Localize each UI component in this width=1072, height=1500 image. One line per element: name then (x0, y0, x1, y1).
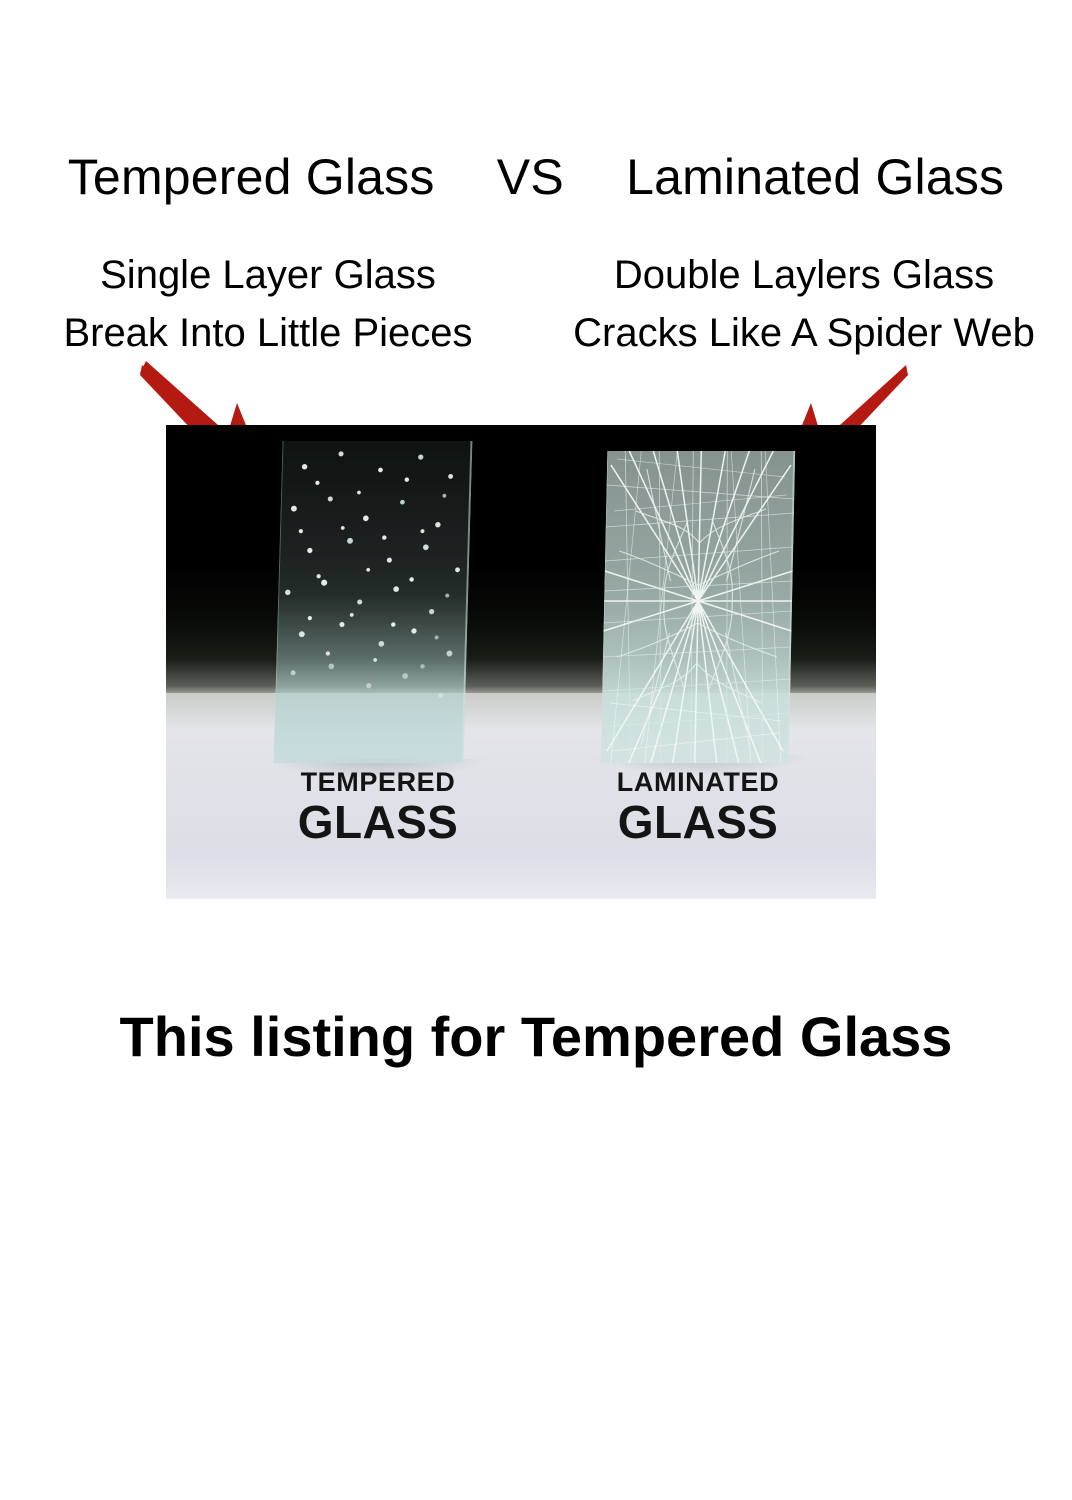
page-title: Tempered Glass VS Laminated Glass (0, 148, 1072, 206)
caption-laminated-line2: Cracks Like A Spider Web (536, 304, 1072, 362)
caption-tempered-line1: Single Layer Glass (0, 246, 536, 304)
caption-laminated-line1: Double Laylers Glass (536, 246, 1072, 304)
spider-web-crack-texture (601, 451, 796, 763)
tempered-glass-slab (274, 441, 473, 763)
tempered-shatter-highlights (274, 441, 473, 763)
photo-caption-laminated-bottom: GLASS (538, 797, 858, 847)
photo-caption-tempered-top: TEMPERED (218, 767, 538, 797)
photo-caption-tempered-bottom: GLASS (218, 797, 538, 847)
comparison-photo: TEMPERED GLASS LAMINATED GLASS (166, 425, 876, 899)
caption-tempered-line2: Break Into Little Pieces (0, 304, 536, 362)
photo-caption-laminated-top: LAMINATED (538, 767, 858, 797)
photo-caption-laminated: LAMINATED GLASS (538, 767, 858, 847)
title-laminated-glass: Laminated Glass (626, 148, 1004, 206)
caption-row: Single Layer Glass Break Into Little Pie… (0, 246, 1072, 366)
caption-column-tempered: Single Layer Glass Break Into Little Pie… (0, 246, 536, 362)
caption-column-laminated: Double Laylers Glass Cracks Like A Spide… (536, 246, 1072, 362)
laminated-glass-slab (601, 451, 796, 763)
title-tempered-glass: Tempered Glass (68, 148, 435, 206)
listing-note: This listing for Tempered Glass (0, 1002, 1072, 1072)
photo-caption-tempered: TEMPERED GLASS (218, 767, 538, 847)
infographic-page: Tempered Glass VS Laminated Glass Single… (0, 0, 1072, 1500)
title-vs: VS (497, 148, 564, 206)
